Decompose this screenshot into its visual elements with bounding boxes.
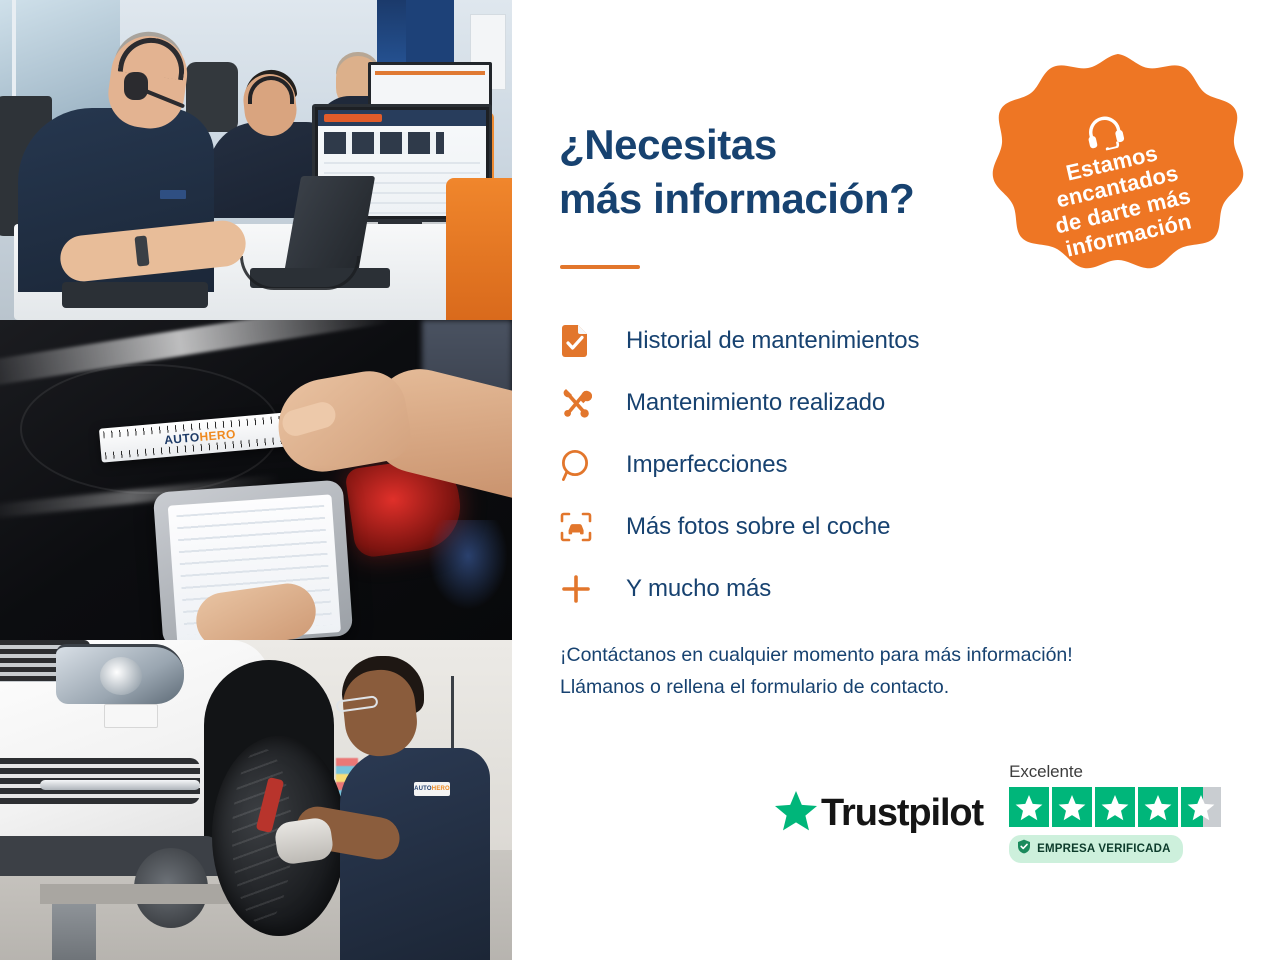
trustpilot-star-icon: [774, 790, 818, 837]
agent-one-earcup: [124, 72, 148, 100]
verified-label: EMPRESA VERIFICADA: [1037, 843, 1171, 855]
feature-item-imperfections: Imperfecciones: [560, 434, 1030, 496]
verified-shield-icon: [1017, 839, 1031, 859]
call-center-agents-photo: [0, 0, 512, 320]
screen-thumbnails: [324, 132, 444, 154]
uniform-logo-decor: [160, 190, 186, 199]
page-title-line-2: más información?: [559, 175, 914, 222]
photo-column: AUTOHERO: [0, 0, 512, 960]
contact-text: ¡Contáctanos en cualquier momento para m…: [560, 640, 1240, 703]
feature-label: Más fotos sobre el coche: [606, 513, 890, 541]
tools-wrench-screwdriver-icon: [560, 387, 606, 419]
star-filled: [1052, 787, 1092, 827]
ruler-brand-part1: AUTO: [164, 430, 200, 447]
feature-item-much-more: Y mucho más: [560, 558, 1030, 620]
screen-accent-bar: [324, 114, 382, 122]
feature-list: Historial de mantenimientos M: [560, 310, 1030, 620]
star-filled: [1095, 787, 1135, 827]
feature-item-maintenance-done: Mantenimiento realizado: [560, 372, 1030, 434]
promo-badge: Estamos encantados de darte más informac…: [986, 50, 1246, 312]
cable-decor: [240, 256, 360, 290]
orange-chair-decor: [446, 178, 512, 320]
ruler-brand-label: AUTOHERO: [164, 427, 237, 447]
star-filled: [1138, 787, 1178, 827]
car-lift-arm: [40, 884, 230, 904]
car-headlight: [56, 644, 184, 704]
contact-line-2: Llámanos o rellena el formulario de cont…: [560, 676, 949, 698]
plus-icon: [560, 573, 606, 605]
feature-label: Mantenimiento realizado: [606, 389, 885, 417]
car-lift-post: [52, 904, 96, 960]
license-plate-blank: [104, 704, 158, 728]
ruler-brand-part2: HERO: [199, 427, 236, 444]
trustpilot-score-block: Excelente: [1009, 762, 1221, 863]
background-monitor: [368, 62, 492, 110]
title-divider: [560, 265, 640, 269]
magnifier-icon: [560, 449, 606, 482]
chrome-trim-decor: [40, 780, 200, 790]
feature-item-maintenance-history: Historial de mantenimientos: [560, 310, 1030, 372]
promo-panel: AUTOHERO: [0, 0, 1280, 960]
feature-label: Imperfecciones: [606, 451, 787, 479]
trustpilot-rating-label: Excelente: [1009, 762, 1221, 782]
desk-tablet-decor: [62, 282, 208, 308]
page-title-line-1: ¿Necesitas: [559, 121, 777, 168]
paint-inspection-photo: AUTOHERO: [0, 320, 512, 640]
trustpilot-wordmark: Trustpilot: [821, 792, 983, 835]
feature-label: Y mucho más: [606, 575, 771, 603]
starburst-shape-icon: [986, 50, 1246, 312]
document-check-icon: [560, 324, 606, 358]
contact-line-1: ¡Contáctanos en cualquier momento para m…: [560, 644, 1073, 666]
feature-label: Historial de mantenimientos: [606, 327, 919, 355]
status-badge: EMPRESA VERIFICADA: [1009, 835, 1183, 863]
uniform-patch-label: AUTOHERO: [414, 782, 450, 796]
star-partial: [1181, 787, 1221, 827]
content-panel: ¿Necesitas más información?: [512, 0, 1280, 960]
patch-part1: AUTO: [414, 786, 432, 792]
blue-reflection-decor: [428, 520, 508, 610]
trustpilot-stars: [1009, 787, 1221, 827]
car-viewfinder-icon: [560, 512, 606, 542]
trustpilot-logo: Trustpilot: [774, 790, 983, 837]
feature-item-more-photos: Más fotos sobre el coche: [560, 496, 1030, 558]
trustpilot-rating: Trustpilot Excelente: [774, 762, 1221, 863]
star-filled: [1009, 787, 1049, 827]
page-title: ¿Necesitas más información?: [559, 118, 914, 226]
patch-part2: HERO: [432, 786, 450, 792]
wheel-service-photo: AUTOHERO: [0, 640, 512, 960]
